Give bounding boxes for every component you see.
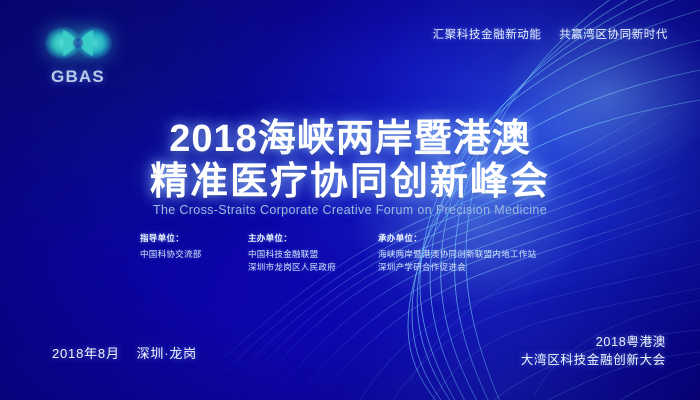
event-location: 深圳·龙岗 xyxy=(137,346,197,361)
organizer-column-host: 主办单位： 中国科技金融联盟 深圳市龙岗区人民政府 xyxy=(248,232,378,274)
organizer-heading: 指导单位： xyxy=(140,232,248,244)
gbas-logo: GBAS xyxy=(36,22,120,87)
title-line-2: 精准医疗协同创新峰会 xyxy=(0,161,700,204)
top-tagline: 汇聚科技金融新动能 共赢湾区协同新时代 xyxy=(433,26,668,42)
organizer-item: 深圳产学研合作促进会 xyxy=(378,261,536,274)
main-title: 2018海峡两岸暨港澳 精准医疗协同创新峰会 xyxy=(0,118,700,203)
title-line-1: 2018海峡两岸暨港澳 xyxy=(0,118,700,161)
organizer-heading: 主办单位： xyxy=(248,232,378,244)
organizer-item: 深圳市龙岗区人民政府 xyxy=(248,261,378,274)
gbas-bowtie-icon xyxy=(36,22,120,66)
organizer-heading: 承办单位： xyxy=(378,232,536,244)
gbas-wordmark: GBAS xyxy=(36,67,120,87)
event-date-location: 2018年8月 深圳·龙岗 xyxy=(52,343,197,362)
organizer-column-guidance: 指导单位： 中国科协交流部 xyxy=(140,232,248,274)
organizer-item: 中国科协交流部 xyxy=(140,248,248,261)
tagline-part-1: 汇聚科技金融新动能 xyxy=(433,29,542,41)
tagline-part-2: 共赢湾区协同新时代 xyxy=(559,29,668,41)
conference-poster: GBAS 汇聚科技金融新动能 共赢湾区协同新时代 2018海峡两岸暨港澳 精准医… xyxy=(0,0,700,400)
parent-event-name: 2018粤港澳 大湾区科技金融创新大会 xyxy=(521,333,666,371)
event-date: 2018年8月 xyxy=(52,346,120,361)
organizer-item: 海峡两岸暨港澳协同创新联盟内地工作站 xyxy=(378,248,536,261)
parent-event-line-2: 大湾区科技金融创新大会 xyxy=(521,351,666,370)
organizer-column-organizer: 承办单位： 海峡两岸暨港澳协同创新联盟内地工作站 深圳产学研合作促进会 xyxy=(378,232,536,274)
organizer-item: 中国科技金融联盟 xyxy=(248,248,378,261)
organizer-section: 指导单位： 中国科协交流部 主办单位： 中国科技金融联盟 深圳市龙岗区人民政府 … xyxy=(0,232,700,274)
parent-event-line-1: 2018粤港澳 xyxy=(521,333,666,352)
english-subtitle: The Cross-Straits Corporate Creative For… xyxy=(0,203,700,217)
